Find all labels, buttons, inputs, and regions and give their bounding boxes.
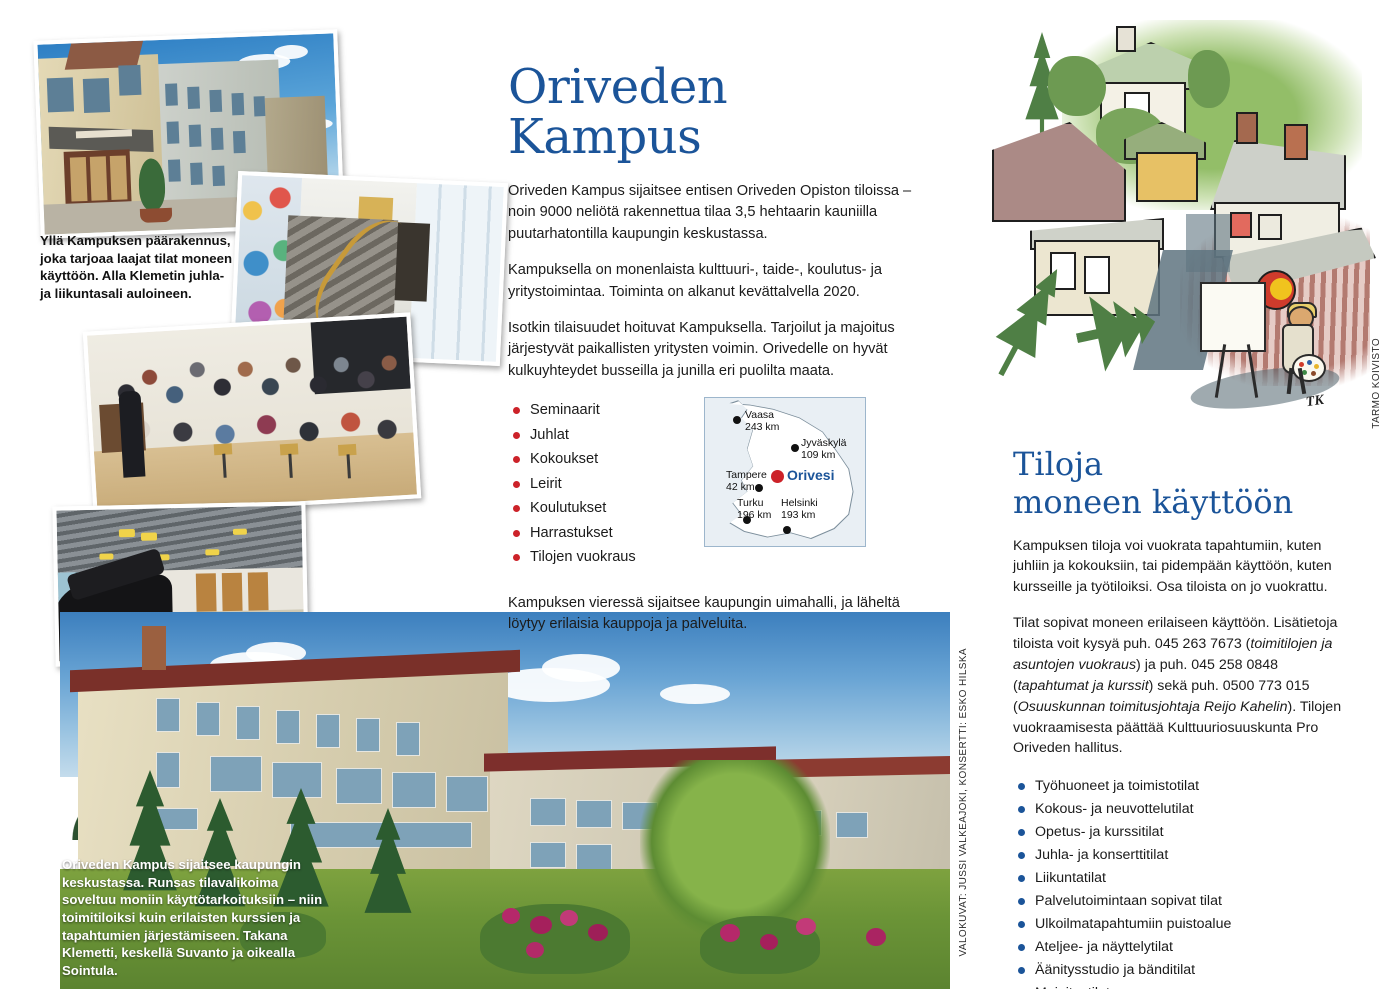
space-list-item: Ulkoilmatapahtumiin puistoalue [1013, 915, 1353, 933]
illus-easel [1200, 282, 1266, 352]
space-list-item: Äänitysstudio ja bänditilat [1013, 961, 1353, 979]
space-list-item: Palvelutoimintaan sopivat tilat [1013, 892, 1353, 910]
illus-bush-1 [1048, 56, 1106, 116]
space-list: Työhuoneet ja toimistotilatKokous- ja ne… [1013, 777, 1353, 989]
closing-paragraph: Kampuksen vieressä sijaitsee kaupungin u… [508, 593, 928, 636]
magazine-spread: Yllä Kampuksen päärakennus, joka tarjoaa… [0, 0, 1400, 989]
sidebar-paragraph-2-emphasis: Osuuskunnan toimitusjohtaja Reijo Kaheli… [1018, 699, 1288, 715]
map-label-vaasa: Vaasa243 km [745, 410, 779, 434]
activity-list-item: Koulutukset [508, 499, 688, 518]
intro-paragraph-3: Isotkin tilaisuudet hoituvat Kampuksella… [508, 318, 928, 382]
activity-list-item: Harrastukset [508, 524, 688, 543]
intro-paragraph-1: Oriveden Kampus sijaitsee entisen Orived… [508, 181, 928, 245]
illus-chimney-3 [1284, 124, 1308, 160]
caption-top: Yllä Kampuksen päärakennus, joka tarjoaa… [40, 232, 236, 302]
activities-and-map: SeminaaritJuhlatKokouksetLeiritKoulutuks… [508, 397, 928, 572]
illus-bush-3 [1188, 50, 1230, 108]
space-list-item: Työhuoneet ja toimistotilat [1013, 777, 1353, 795]
activity-list-item: Seminaarit [508, 401, 688, 420]
illus-chimney-2 [1236, 112, 1258, 144]
illustration-campus-watercolor: TK [1000, 0, 1372, 462]
sidebar-heading-line2: moneen käyttöön [1013, 483, 1293, 521]
finland-locator-map: Vaasa243 km Jyväskylä109 km Tampere42 km… [704, 397, 866, 547]
activity-list-item: Leirit [508, 475, 688, 494]
space-list-item: Opetus- ja kurssitilat [1013, 823, 1353, 841]
illustration-credit: TARMO KOIVISTO [1371, 338, 1382, 429]
space-list-item: Liikuntatilat [1013, 869, 1353, 887]
caption-bottom: Oriveden Kampus sijaitsee kaupungin kesk… [62, 856, 334, 980]
map-label-helsinki: Helsinki193 km [781, 498, 818, 522]
space-list-item: Ateljee- ja näyttelytilat [1013, 938, 1353, 956]
space-list-item: Majoitustilat [1013, 984, 1353, 989]
illustration-signature: TK [1305, 393, 1325, 411]
page-title: Oriveden Kampus [508, 62, 928, 163]
activity-list-item: Kokoukset [508, 450, 688, 469]
illus-window-2 [1230, 212, 1252, 238]
activity-list-item: Tilojen vuokraus [508, 548, 688, 567]
activity-list-wrap: SeminaaritJuhlatKokouksetLeiritKoulutuks… [508, 397, 688, 572]
illus-window-5 [1084, 256, 1110, 294]
map-label-orivesi: Orivesi [787, 468, 834, 484]
activity-list-item: Juhlat [508, 426, 688, 445]
sidebar-heading-line1: Tiloja [1013, 445, 1103, 483]
sidebar-paragraph-2-emphasis: tapahtumat ja kurssit [1018, 678, 1149, 694]
intro-paragraph-2: Kampuksella on monenlaista kulttuuri-, t… [508, 260, 928, 303]
illus-artist [1276, 306, 1320, 398]
map-dot-vaasa [733, 416, 741, 424]
photo-concert-hall [83, 312, 421, 517]
sidebar-paragraph-2: Tilat sopivat moneen erilaiseen käyttöön… [1013, 613, 1353, 759]
photo-credit: VALOKUVAT: JUSSI VALKEAJOKI, KONSERTTI: … [958, 648, 969, 956]
sidebar-paragraph-1: Kampuksen tiloja voi vuokrata tapahtumii… [1013, 536, 1353, 599]
illus-house-2 [1136, 152, 1198, 202]
map-label-jyvaskyla: Jyväskylä109 km [801, 438, 847, 462]
map-label-tampere: Tampere42 km [726, 470, 767, 494]
illus-window-3 [1258, 214, 1282, 240]
space-list-item: Juhla- ja konserttitilat [1013, 846, 1353, 864]
space-list-item: Kokous- ja neuvottelutilat [1013, 800, 1353, 818]
illus-chimney-1 [1116, 26, 1136, 52]
illus-path-2 [1186, 214, 1230, 272]
activity-list: SeminaaritJuhlatKokouksetLeiritKoulutuks… [508, 401, 688, 567]
sidebar-heading: Tiloja moneen käyttöön [1013, 446, 1353, 522]
map-label-turku: Turku196 km [737, 498, 771, 522]
illus-sun-core [1270, 278, 1292, 300]
sidebar-text-column: Tiloja moneen käyttöön Kampuksen tiloja … [1013, 446, 1353, 989]
main-text-column: Oriveden Kampus Oriveden Kampus sijaitse… [508, 62, 928, 650]
